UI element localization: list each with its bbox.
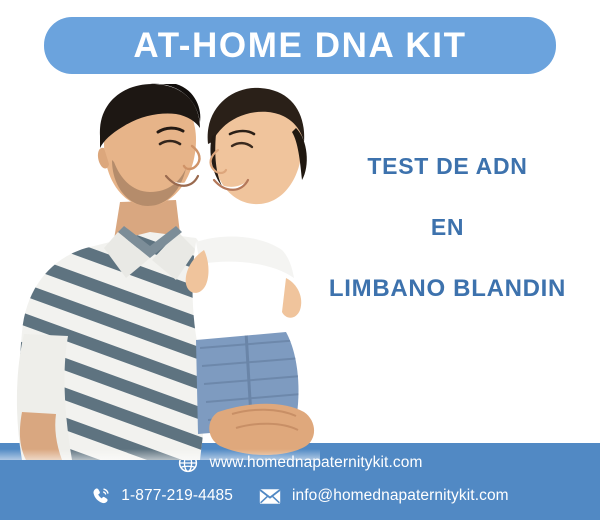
header-banner: AT-HOME DNA KIT <box>44 17 556 74</box>
phone-icon <box>91 486 111 506</box>
email-contact[interactable]: info@homednapaternitykit.com <box>259 487 509 505</box>
headline-block: TEST DE ADN EN LIMBANO BLANDIN <box>305 155 590 301</box>
page-title: AT-HOME DNA KIT <box>133 28 466 63</box>
headline-line-2: EN <box>305 216 590 239</box>
envelope-icon <box>259 488 281 505</box>
poster-canvas: AT-HOME DNA KIT <box>0 0 600 520</box>
phone-contact[interactable]: 1-877-219-4485 <box>91 486 233 506</box>
footer-contact-row: 1-877-219-4485 info@homednapaternitykit.… <box>0 486 600 506</box>
headline-line-3: LIMBANO BLANDIN <box>305 277 590 301</box>
headline-line-1: TEST DE ADN <box>305 155 590 178</box>
father-and-child-photo <box>0 82 320 460</box>
phone-text[interactable]: 1-877-219-4485 <box>121 487 233 505</box>
email-text[interactable]: info@homednapaternitykit.com <box>292 487 509 505</box>
